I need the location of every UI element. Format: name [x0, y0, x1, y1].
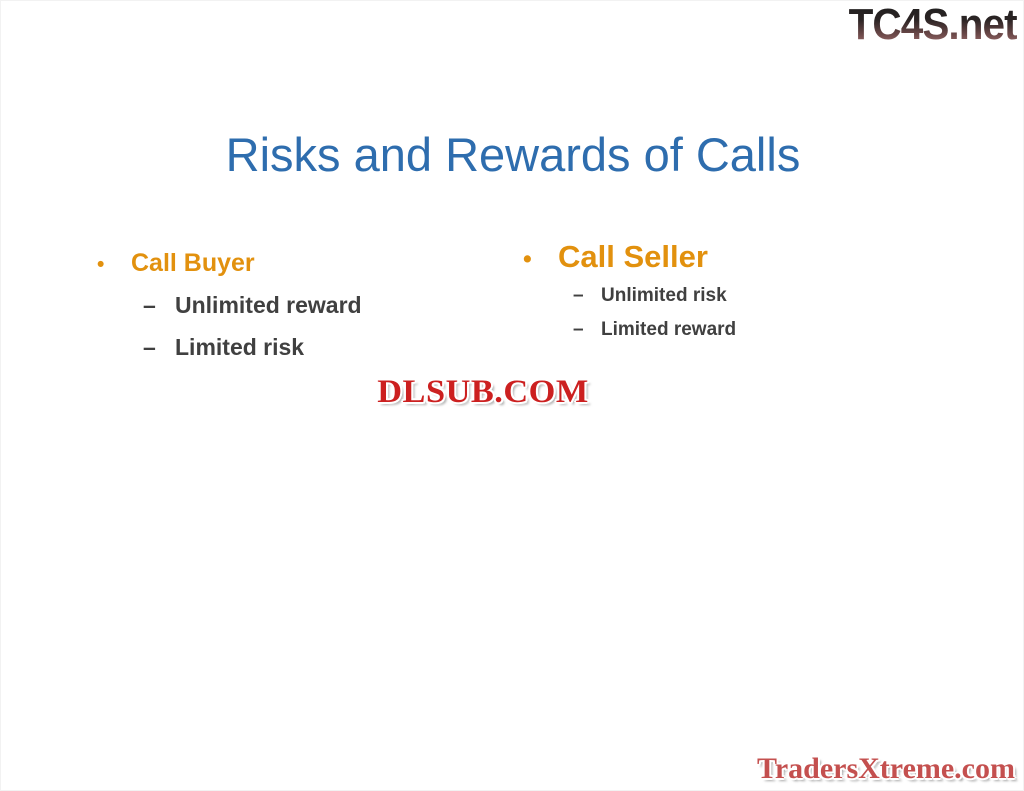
- bullet-column-call-buyer: • Call Buyer – Unlimited reward – Limite…: [97, 249, 497, 378]
- list-item-label: Limited reward: [601, 320, 943, 339]
- bullet-heading-label: Call Seller: [558, 239, 943, 275]
- presentation-slide: TC4S.net Risks and Rewards of Calls • Ca…: [0, 0, 1024, 791]
- list-item: – Limited risk: [143, 336, 497, 359]
- tc4s-logo: TC4S.net: [849, 3, 1017, 47]
- list-item: – Unlimited risk: [573, 286, 943, 305]
- bullet-heading-label: Call Buyer: [131, 249, 497, 278]
- dash-icon: –: [143, 294, 175, 317]
- list-item-label: Unlimited risk: [601, 286, 943, 305]
- dlsub-watermark: DLSUB.COM: [371, 373, 595, 415]
- bullet-dot-icon: •: [523, 247, 558, 272]
- sub-bullet-list-call-buyer: – Unlimited reward – Limited risk: [97, 294, 497, 359]
- sub-bullet-list-call-seller: – Unlimited risk – Limited reward: [523, 286, 943, 339]
- dash-icon: –: [143, 336, 175, 359]
- dash-icon: –: [573, 286, 601, 305]
- bullet-column-call-seller: • Call Seller – Unlimited risk – Limited…: [523, 239, 943, 354]
- list-item: – Unlimited reward: [143, 294, 497, 317]
- list-item-label: Unlimited reward: [175, 294, 497, 317]
- bullet-heading-call-seller: • Call Seller: [523, 239, 943, 275]
- dash-icon: –: [573, 320, 601, 339]
- tradersxtreme-logo: TradersXtreme.com: [757, 754, 1015, 784]
- list-item: – Limited reward: [573, 320, 943, 339]
- list-item-label: Limited risk: [175, 336, 497, 359]
- bullet-dot-icon: •: [97, 254, 131, 275]
- bullet-heading-call-buyer: • Call Buyer: [97, 249, 497, 278]
- page-title: Risks and Rewards of Calls: [1, 129, 1024, 182]
